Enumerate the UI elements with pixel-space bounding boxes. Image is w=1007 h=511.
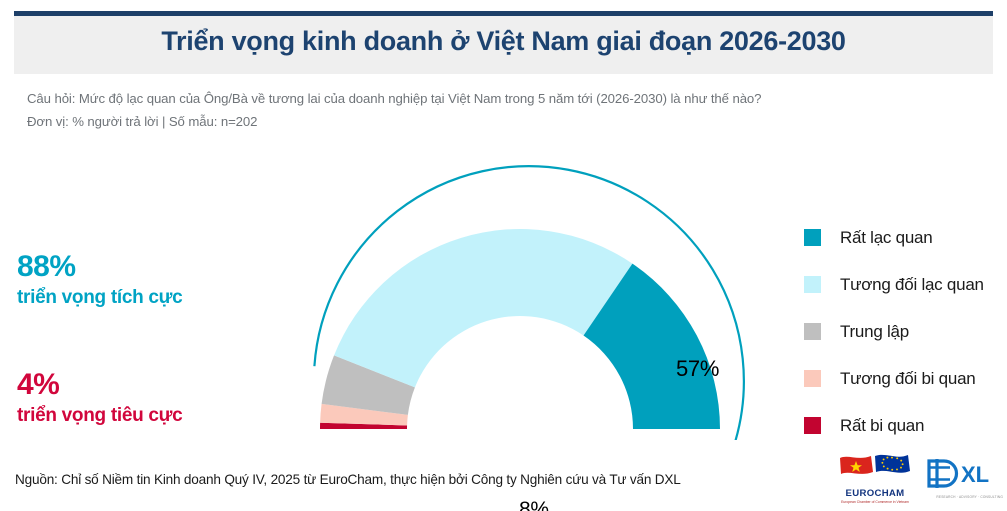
callout-negative-value: 4% — [17, 368, 182, 402]
page-title: Triển vọng kinh doanh ở Việt Nam giai đo… — [14, 26, 993, 57]
eurocham-flags-icon — [838, 452, 912, 482]
legend-label-very-pessimistic: Rất bi quan — [840, 416, 924, 436]
legend-item-somewhat-optimistic[interactable]: Tương đối lạc quan — [804, 261, 984, 308]
subtitle-block: Câu hỏi: Mức độ lạc quan của Ông/Bà về t… — [27, 88, 761, 133]
segment-label-neutral: 8% — [519, 498, 549, 511]
legend-swatch-very-optimistic — [804, 229, 821, 246]
legend-item-neutral[interactable]: Trung lập — [804, 308, 984, 355]
dxl-logo-subtext: RESEARCH · ADVISORY · CONSULTING — [925, 495, 1003, 499]
survey-unit: Đơn vị: % người trả lời | Số mẫu: n=202 — [27, 111, 761, 134]
callout-positive-label: triển vọng tích cực — [17, 284, 182, 313]
callout-positive-value: 88% — [17, 250, 182, 284]
eurocham-logo-subtext: European Chamber of Commerce in Vietnam — [838, 500, 912, 504]
legend-swatch-somewhat-optimistic — [804, 276, 821, 293]
legend: Rất lạc quan Tương đối lạc quan Trung lậ… — [804, 214, 984, 449]
legend-label-very-optimistic: Rất lạc quan — [840, 228, 932, 248]
gauge-segment-somewhat-optimistic[interactable] — [334, 229, 632, 387]
gauge-svg — [232, 148, 804, 440]
callout-negative-label: triển vọng tiêu cực — [17, 402, 182, 431]
eurocham-logo-text: EUROCHAM — [838, 488, 912, 499]
legend-label-somewhat-optimistic: Tương đối lạc quan — [840, 275, 984, 295]
eurocham-logo: EUROCHAM European Chamber of Commerce in… — [838, 452, 912, 504]
survey-question: Câu hỏi: Mức độ lạc quan của Ông/Bà về t… — [27, 88, 761, 111]
dxl-logo: XL RESEARCH · ADVISORY · CONSULTING — [925, 457, 1003, 499]
callout-positive: 88% triển vọng tích cực — [17, 250, 182, 312]
svg-text:XL: XL — [961, 462, 989, 487]
legend-label-neutral: Trung lập — [840, 322, 909, 342]
gauge-chart: 57% 31% 8% 3% 1% — [232, 148, 804, 445]
legend-swatch-very-pessimistic — [804, 417, 821, 434]
dxl-mark-icon: XL — [925, 457, 1003, 490]
legend-swatch-neutral — [804, 323, 821, 340]
legend-swatch-somewhat-pessimistic — [804, 370, 821, 387]
footer-logos: EUROCHAM European Chamber of Commerce in… — [838, 452, 1003, 504]
legend-item-somewhat-pessimistic[interactable]: Tương đối bi quan — [804, 355, 984, 402]
infographic-page: Triển vọng kinh doanh ở Việt Nam giai đo… — [0, 0, 1007, 511]
legend-item-very-pessimistic[interactable]: Rất bi quan — [804, 402, 984, 449]
segment-label-somewhat-optimistic: 57% — [676, 356, 719, 382]
legend-label-somewhat-pessimistic: Tương đối bi quan — [840, 369, 975, 389]
callout-negative: 4% triển vọng tiêu cực — [17, 368, 182, 430]
legend-item-very-optimistic[interactable]: Rất lạc quan — [804, 214, 984, 261]
footer-source-text: Nguồn: Chỉ số Niềm tin Kinh doanh Quý IV… — [15, 472, 681, 487]
